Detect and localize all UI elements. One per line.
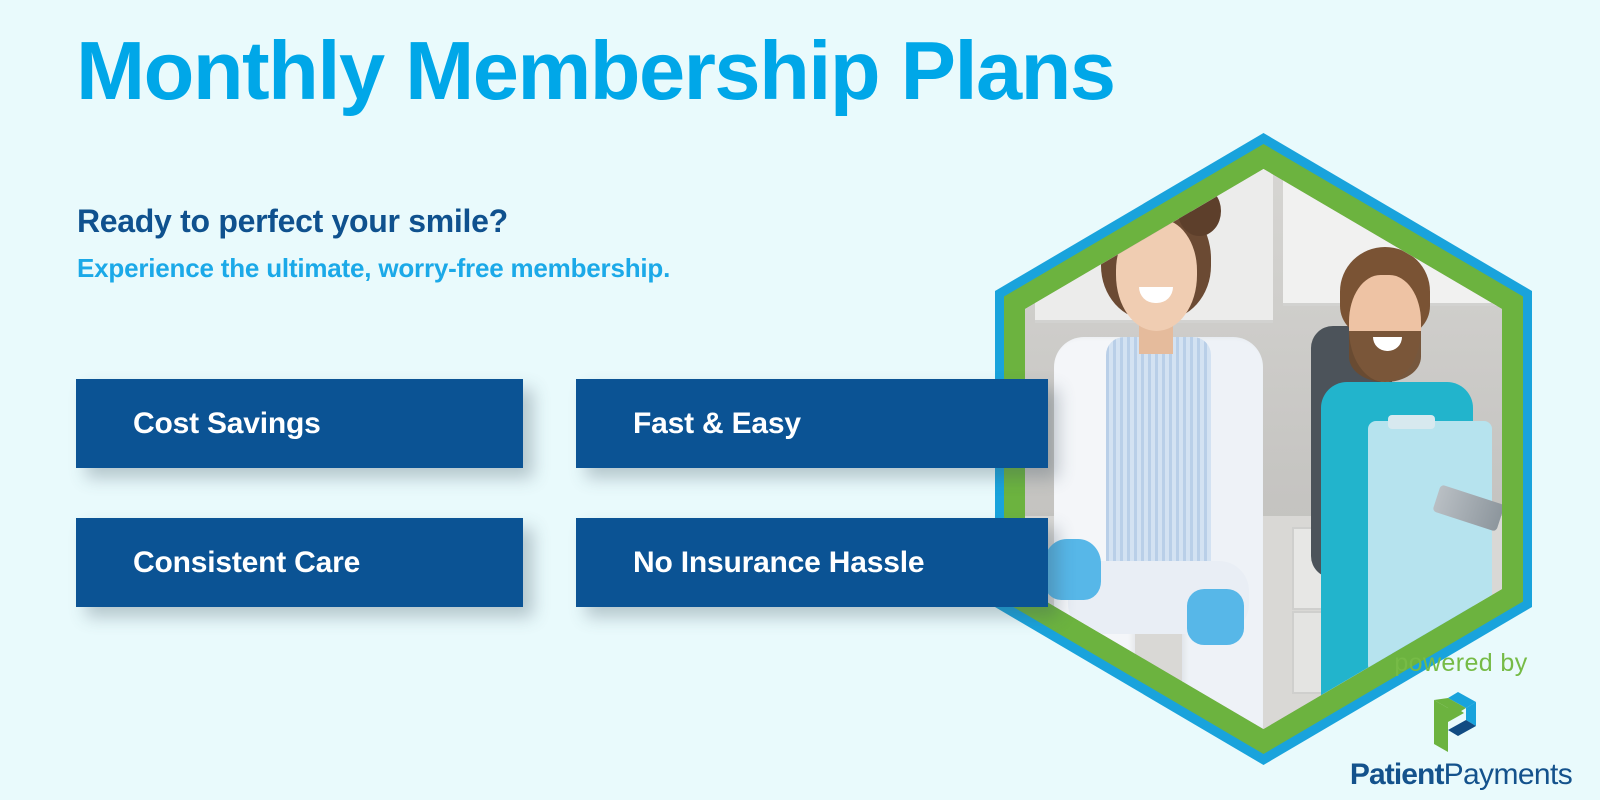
brand-logo-lockup: powered by PatientPayments xyxy=(1338,651,1584,790)
membership-plans-banner: Monthly Membership Plans Ready to perfec… xyxy=(0,0,1600,800)
subheading-question: Ready to perfect your smile? xyxy=(77,203,508,240)
feature-label: Fast & Easy xyxy=(576,407,801,441)
powered-by-label: powered by xyxy=(1338,651,1584,676)
feature-box-cost-savings[interactable]: Cost Savings xyxy=(76,379,523,468)
photo-bib-clip xyxy=(1388,415,1436,429)
photo-dentist-glove-right xyxy=(1187,589,1244,645)
patient-payments-logo-icon xyxy=(1428,692,1494,752)
page-title: Monthly Membership Plans xyxy=(76,26,1115,116)
subheading-tagline: Experience the ultimate, worry-free memb… xyxy=(77,253,670,284)
feature-label: Consistent Care xyxy=(76,546,360,580)
patient-payments-wordmark: PatientPayments xyxy=(1338,760,1584,790)
feature-box-fast-easy[interactable]: Fast & Easy xyxy=(576,379,1048,468)
photo-dentist-glove-left xyxy=(1044,539,1101,601)
feature-label: Cost Savings xyxy=(76,407,321,441)
feature-label: No Insurance Hassle xyxy=(576,546,924,580)
wordmark-payments: Payments xyxy=(1444,758,1573,791)
feature-box-consistent-care[interactable]: Consistent Care xyxy=(76,518,523,607)
photo-dentist-shirt xyxy=(1106,337,1211,561)
feature-box-no-insurance-hassle[interactable]: No Insurance Hassle xyxy=(576,518,1048,607)
wordmark-patient: Patient xyxy=(1350,758,1444,791)
